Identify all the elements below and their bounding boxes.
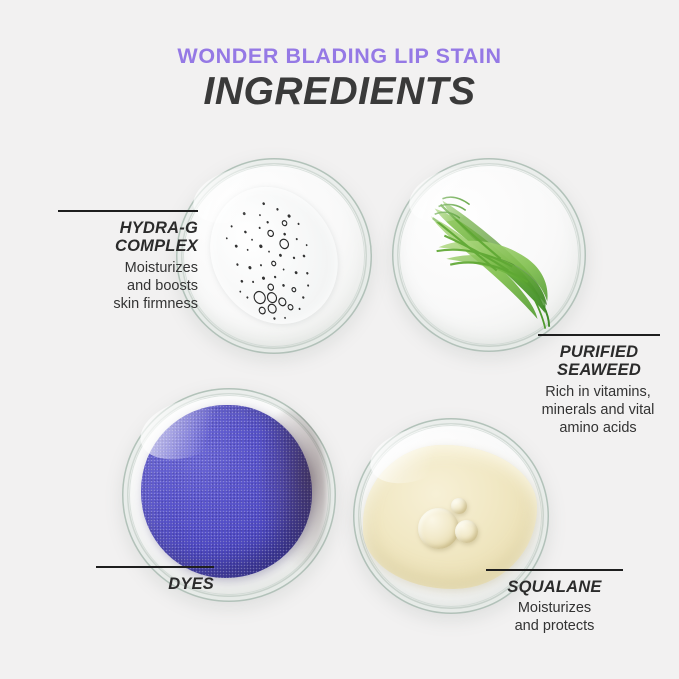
callout-title: PURIFIED SEAWEED <box>538 343 660 381</box>
petri-dish-seaweed <box>392 158 586 352</box>
dish-contents-seaweed <box>392 158 586 352</box>
callout-leader-line <box>96 566 214 568</box>
gel-bubbles-icon <box>188 166 360 347</box>
petri-dish-hydra-g <box>176 158 372 354</box>
callout-description: Moisturizes and protects <box>486 600 623 635</box>
brand-line: WONDER BLADING LIP STAIN <box>0 44 679 69</box>
callout-leader-line <box>58 210 198 212</box>
callout-leader-line <box>538 334 660 336</box>
callout-purified-seaweed: PURIFIED SEAWEED Rich in vitamins, miner… <box>538 334 660 437</box>
callout-title: HYDRA-G COMPLEX <box>58 219 198 257</box>
callout-leader-line <box>486 569 623 571</box>
clear-gel-blob-icon <box>188 166 360 347</box>
callout-description: Rich in vitamins, minerals and vital ami… <box>536 384 660 437</box>
callout-squalane: SQUALANE Moisturizes and protects <box>486 569 623 636</box>
oil-droplet-small <box>451 498 467 514</box>
callout-dyes: DYES <box>96 566 214 593</box>
dish-contents-hydra-g <box>176 158 372 354</box>
page-title: INGREDIENTS <box>0 70 679 114</box>
dye-shadow <box>255 409 328 576</box>
ingredients-infographic: WONDER BLADING LIP STAIN INGREDIENTS <box>0 0 679 679</box>
callout-hydra-g-complex: HYDRA-G COMPLEX Moisturizes and boosts s… <box>58 210 198 313</box>
callout-title: DYES <box>96 575 214 594</box>
callout-title: SQUALANE <box>486 578 623 597</box>
oil-droplet-large <box>418 508 459 549</box>
callout-description: Moisturizes and boosts skin firmness <box>58 260 198 313</box>
seaweed-icon <box>392 158 586 352</box>
